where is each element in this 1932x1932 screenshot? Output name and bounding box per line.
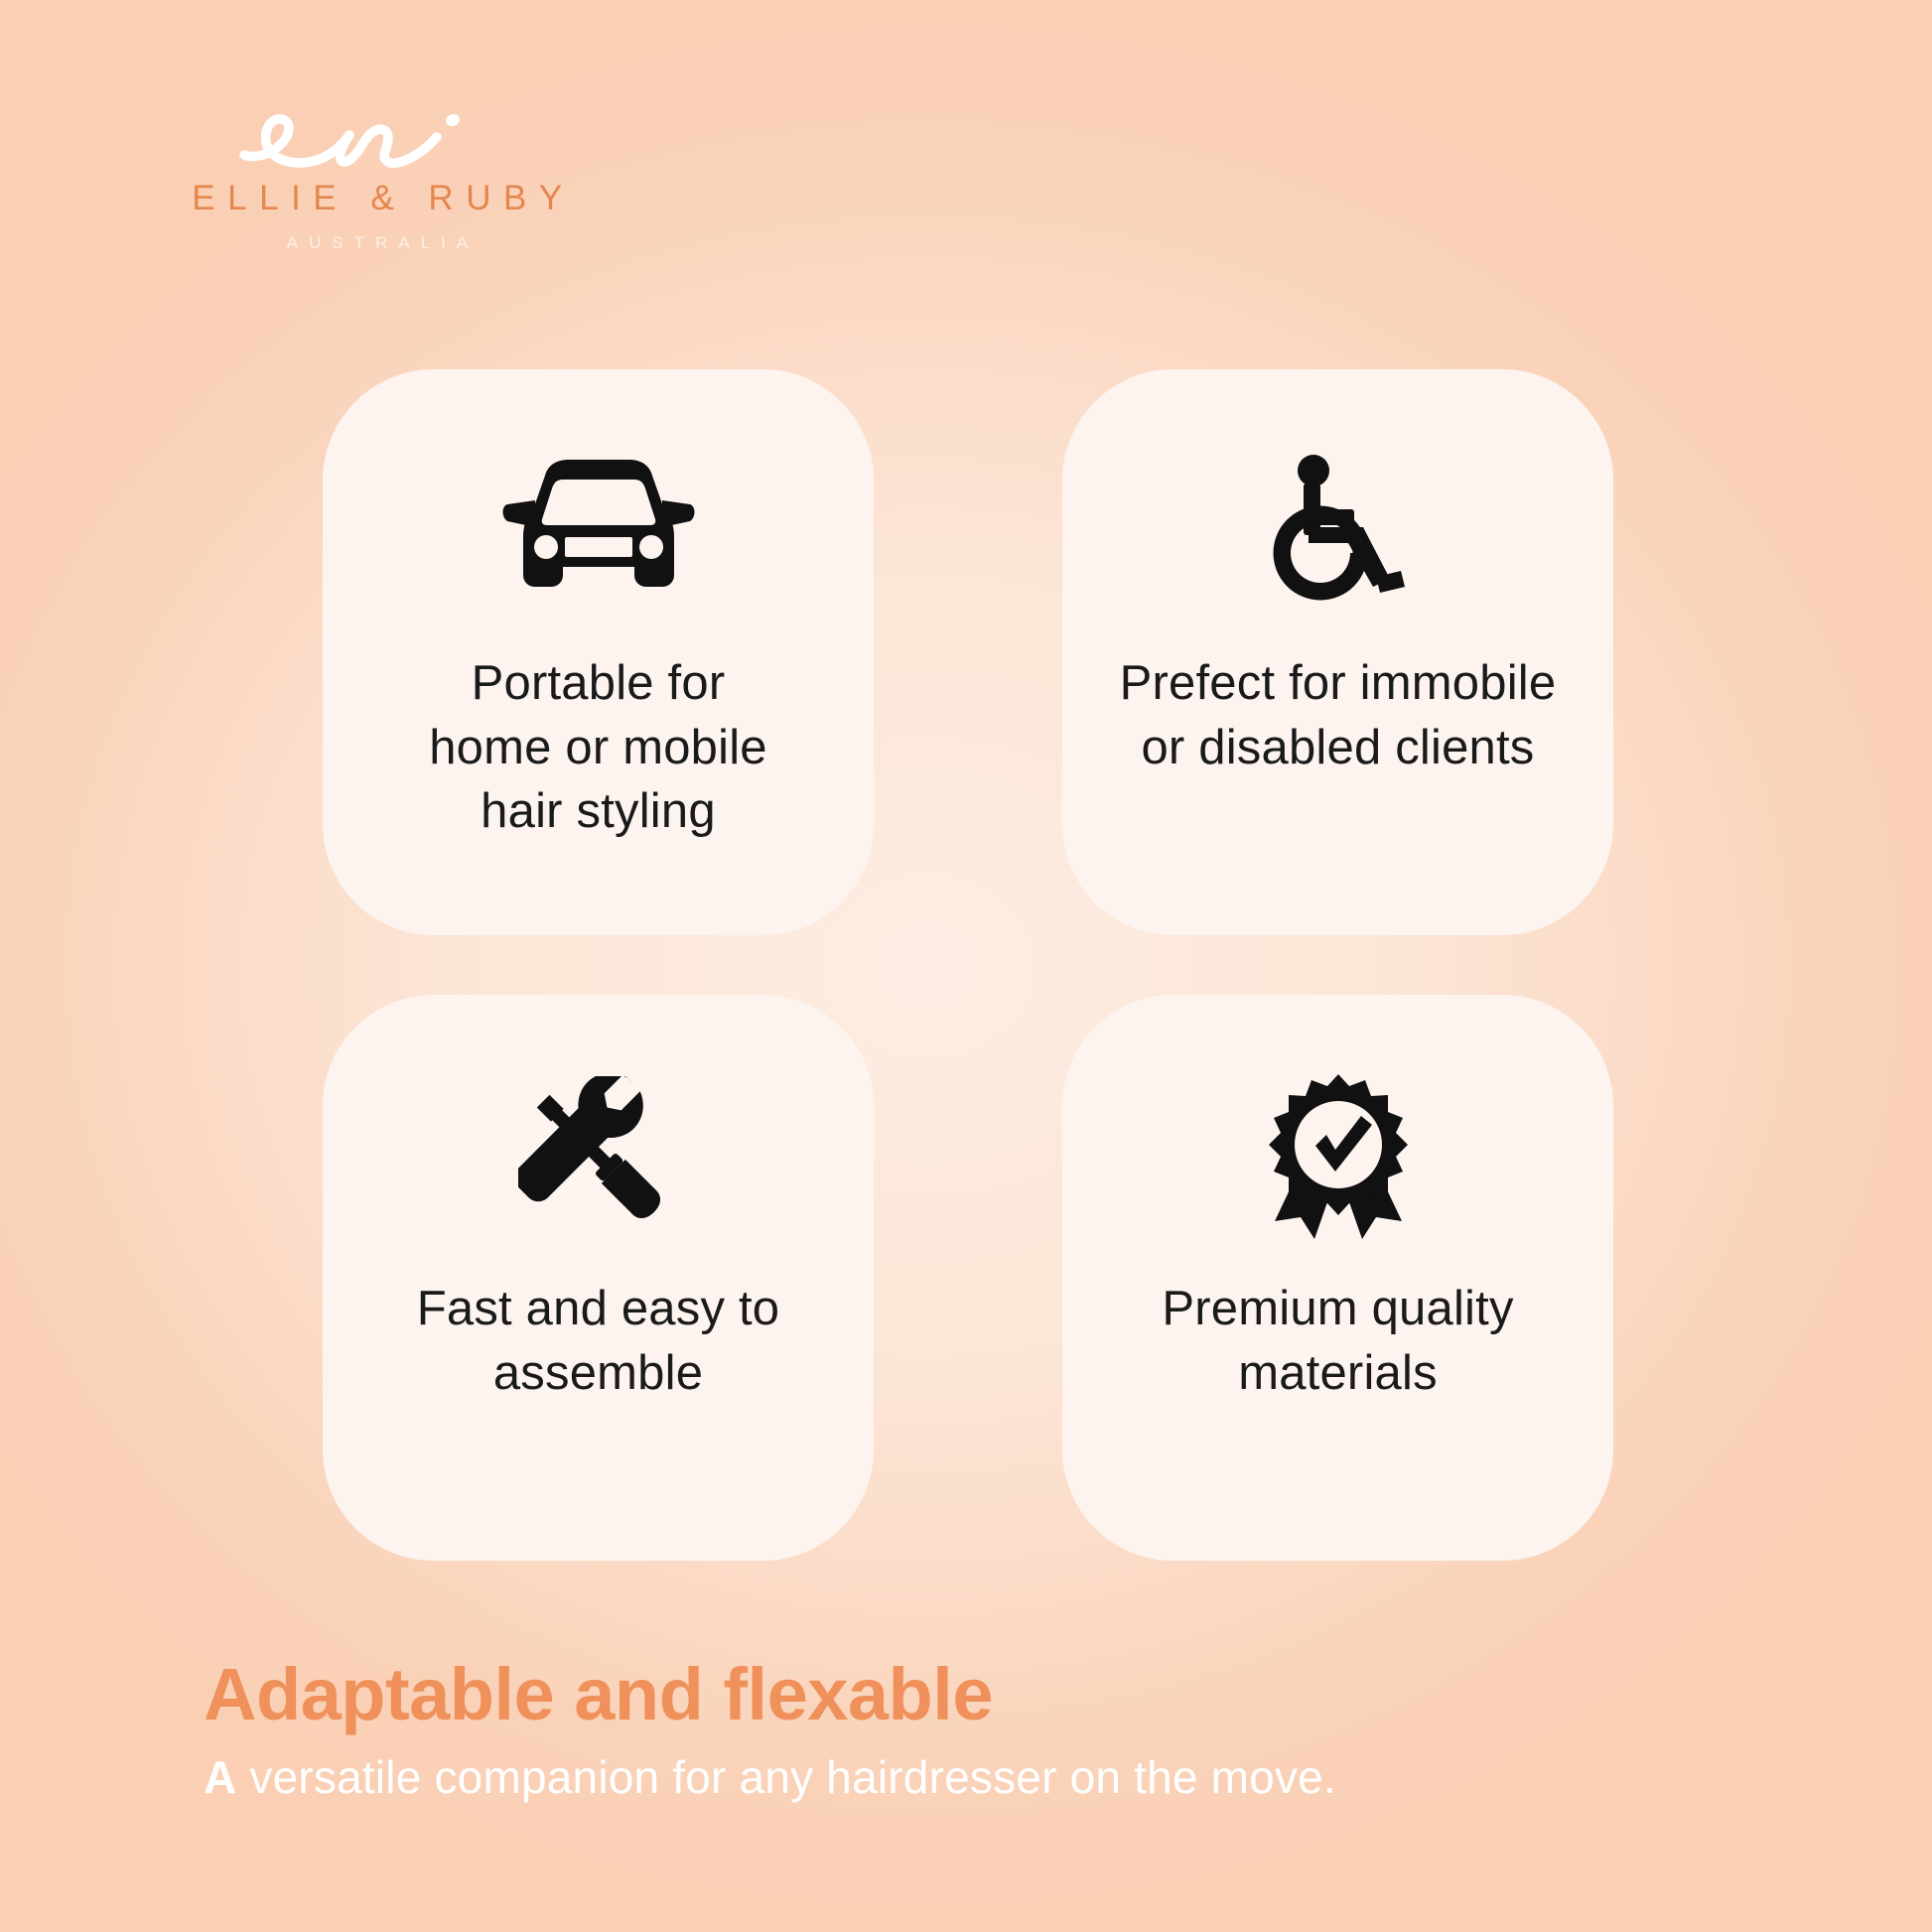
footer-sub-rest: versatile companion for any hairdresser … <box>236 1751 1335 1803</box>
car-icon <box>501 447 696 616</box>
promo-poster: ELLIE & RUBY AUSTRALIA <box>0 0 1932 1932</box>
feature-grid: Portable for home or mobile hair styling <box>323 369 1613 1561</box>
feature-card-label: Portable for home or mobile hair styling <box>407 651 789 844</box>
feature-card-portable[interactable]: Portable for home or mobile hair styling <box>323 369 874 935</box>
feature-card-assembly[interactable]: Fast and easy to assemble <box>323 995 874 1561</box>
footer-block: Adaptable and flexable A versatile compa… <box>204 1656 1792 1804</box>
footer-sub-lead: A <box>204 1751 236 1803</box>
wheelchair-icon <box>1269 447 1408 616</box>
footer-subheadline: A versatile companion for any hairdresse… <box>204 1751 1792 1804</box>
feature-card-label: Premium quality materials <box>1140 1277 1535 1405</box>
brand-country: AUSTRALIA <box>169 234 586 251</box>
er-monogram-icon <box>226 95 475 181</box>
brand-logo: ELLIE & RUBY AUSTRALIA <box>169 95 586 274</box>
award-badge-icon <box>1263 1072 1414 1241</box>
feature-card-label: Fast and easy to assemble <box>395 1277 801 1405</box>
footer-headline: Adaptable and flexable <box>204 1656 1792 1733</box>
brand-name: ELLIE & RUBY <box>169 181 586 215</box>
feature-card-accessible[interactable]: Prefect for immobile or disabled clients <box>1062 369 1613 935</box>
tools-icon <box>518 1072 679 1241</box>
feature-card-label: Prefect for immobile or disabled clients <box>1098 651 1579 779</box>
feature-card-quality[interactable]: Premium quality materials <box>1062 995 1613 1561</box>
